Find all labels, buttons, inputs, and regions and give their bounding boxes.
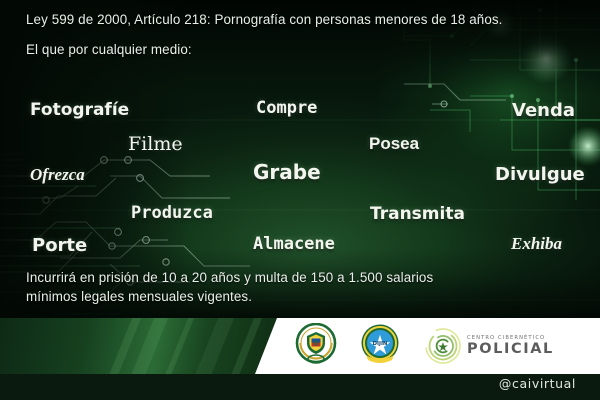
dijin-label: DIJIN	[373, 341, 388, 347]
escudo-dijin-icon: DIJIN	[359, 323, 401, 370]
centro-cibernetico-policial-logo: CENTRO CIBERNÉTICO POLICIAL	[423, 326, 554, 366]
verb-transmita: Transmita	[370, 204, 465, 224]
social-handle: @caivirtual	[499, 376, 576, 391]
footer-bar: DIJIN CENTRO CIBERNÉTICO P	[0, 318, 600, 400]
poster-canvas: Ley 599 de 2000, Artículo 218: Pornograf…	[0, 0, 600, 400]
verb-divulgue: Divulgue	[495, 164, 585, 185]
footer-logos: DIJIN CENTRO CIBERNÉTICO P	[255, 318, 600, 374]
verb-filme: Filme	[128, 133, 183, 155]
penalty-line-2: mínimos legales mensuales vigentes.	[26, 287, 578, 306]
cyber-swirl-icon	[423, 326, 463, 366]
penalty-text: Incurrirá en prisión de 10 a 20 años y m…	[26, 268, 578, 307]
logo-title: POLICIAL	[467, 342, 554, 357]
verb-venda: Venda	[512, 100, 575, 121]
verb-exhiba: Exhiba	[511, 234, 562, 254]
penalty-line-1: Incurrirá en prisión de 10 a 20 años y m…	[26, 268, 578, 287]
verb-fotografíe: Fotografíe	[30, 100, 129, 120]
verb-ofrezca: Ofrezca	[30, 165, 85, 185]
verb-grabe: Grabe	[253, 160, 321, 184]
verb-produzca: Produzca	[131, 203, 213, 223]
verb-almacene: Almacene	[253, 234, 335, 254]
verb-compre: Compre	[256, 98, 317, 118]
escudo-policia-nacional-icon	[295, 323, 337, 370]
verb-posea: Posea	[369, 134, 419, 154]
verb-porte: Porte	[32, 235, 87, 256]
